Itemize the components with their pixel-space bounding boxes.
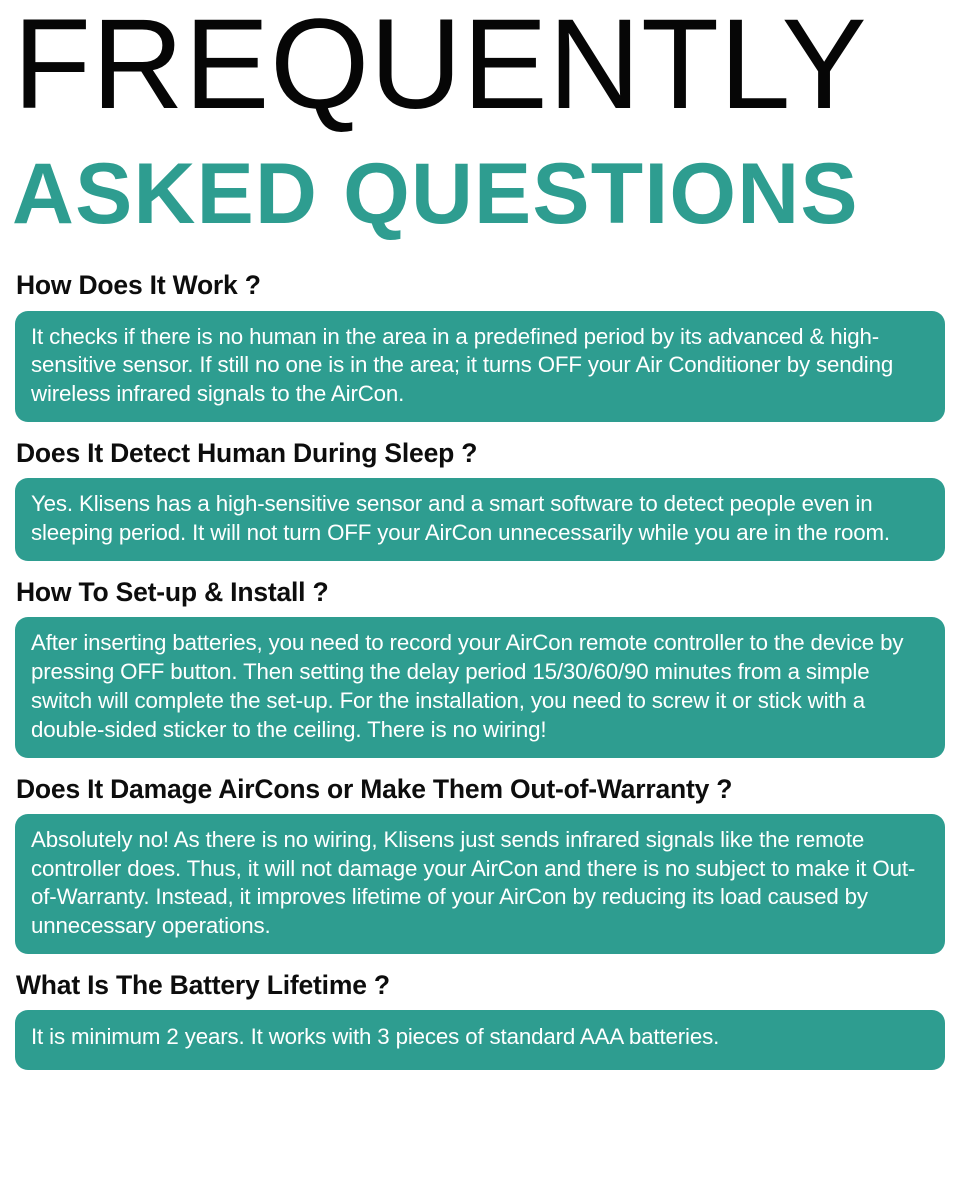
faq-answer-text: It is minimum 2 years. It works with 3 p… [31, 1023, 929, 1052]
faq-question: What Is The Battery Lifetime ? [16, 971, 945, 1000]
faq-answer-box: It checks if there is no human in the ar… [15, 311, 945, 423]
faq-answer-text: Yes. Klisens has a high-sensitive sensor… [31, 490, 929, 548]
faq-answer-box: Yes. Klisens has a high-sensitive sensor… [15, 478, 945, 561]
faq-answer-text: Absolutely no! As there is no wiring, Kl… [31, 826, 929, 941]
faq-answer-box: It is minimum 2 years. It works with 3 p… [15, 1010, 945, 1070]
faq-item: Does It Detect Human During Sleep ? Yes.… [15, 439, 945, 561]
faq-list: How Does It Work ? It checks if there is… [15, 271, 945, 1070]
faq-question: Does It Detect Human During Sleep ? [16, 439, 945, 468]
faq-answer-box: Absolutely no! As there is no wiring, Kl… [15, 814, 945, 954]
faq-item: How Does It Work ? It checks if there is… [15, 271, 945, 422]
faq-question: How Does It Work ? [16, 271, 945, 300]
faq-question: How To Set-up & Install ? [16, 578, 945, 607]
page-title-line-1: FREQUENTLY [13, 2, 943, 127]
faq-item: Does It Damage AirCons or Make Them Out-… [15, 775, 945, 955]
page-title-block: FREQUENTLY ASKED QUESTIONS [15, 0, 945, 237]
faq-answer-box: After inserting batteries, you need to r… [15, 617, 945, 757]
faq-item: What Is The Battery Lifetime ? It is min… [15, 971, 945, 1070]
faq-answer-text: It checks if there is no human in the ar… [31, 323, 929, 410]
page-title-line-2: ASKED QUESTIONS [12, 151, 942, 237]
faq-question: Does It Damage AirCons or Make Them Out-… [16, 775, 945, 804]
faq-page: FREQUENTLY ASKED QUESTIONS How Does It W… [0, 0, 960, 1189]
faq-answer-text: After inserting batteries, you need to r… [31, 629, 929, 744]
faq-item: How To Set-up & Install ? After insertin… [15, 578, 945, 758]
